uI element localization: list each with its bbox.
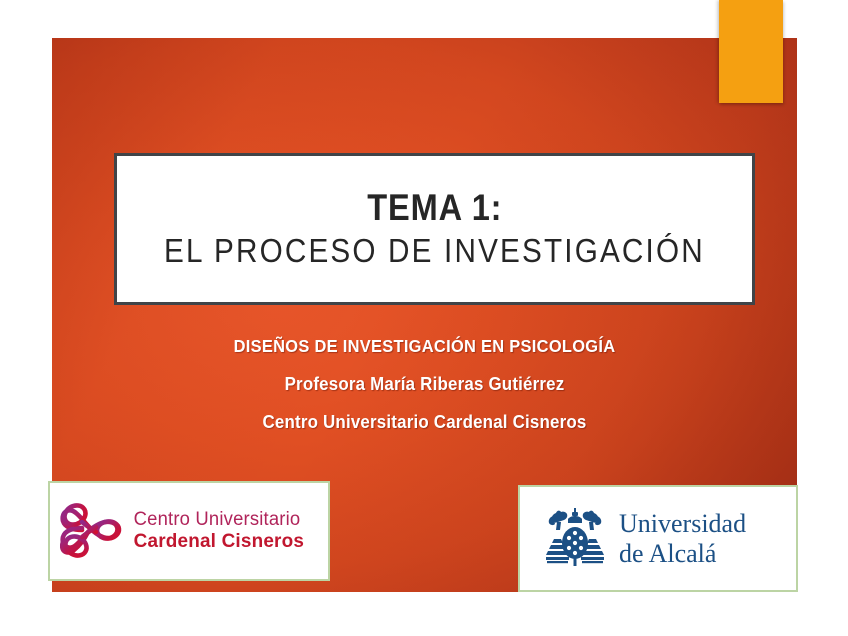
logo-box-cardenal-cisneros: Centro Universitario Cardenal Cisneros (48, 481, 330, 581)
cucc-wordmark-line-1: Centro Universitario (134, 510, 304, 529)
uah-wordmark-line-1: Universidad (619, 510, 746, 537)
title-line-2: EL PROCESO DE INVESTIGACIÓN (164, 232, 705, 271)
subtitle-block: DISEÑOS DE INVESTIGACIÓN EN PSICOLOGÍA P… (52, 336, 797, 433)
uah-swans-crest-icon (544, 503, 606, 574)
presentation-slide: TEMA 1: EL PROCESO DE INVESTIGACIÓN DISE… (0, 0, 848, 636)
cucc-pinwheel-icon (60, 496, 122, 567)
subtitle-institution: Centro Universitario Cardenal Cisneros (74, 412, 774, 433)
uah-wordmark-line-2: de Alcalá (619, 540, 746, 567)
orange-accent-bar (719, 0, 783, 103)
logo-box-universidad-alcala: Universidad de Alcalá (518, 485, 798, 592)
subtitle-course: DISEÑOS DE INVESTIGACIÓN EN PSICOLOGÍA (74, 336, 774, 357)
title-line-1: TEMA 1: (367, 188, 502, 228)
title-box: TEMA 1: EL PROCESO DE INVESTIGACIÓN (114, 153, 755, 305)
cucc-wordmark: Centro Universitario Cardenal Cisneros (131, 510, 307, 552)
cucc-wordmark-line-2: Cardenal Cisneros (134, 532, 304, 552)
subtitle-professor: Profesora María Riberas Gutiérrez (74, 374, 774, 395)
uah-wordmark: Universidad de Alcalá (619, 510, 746, 566)
